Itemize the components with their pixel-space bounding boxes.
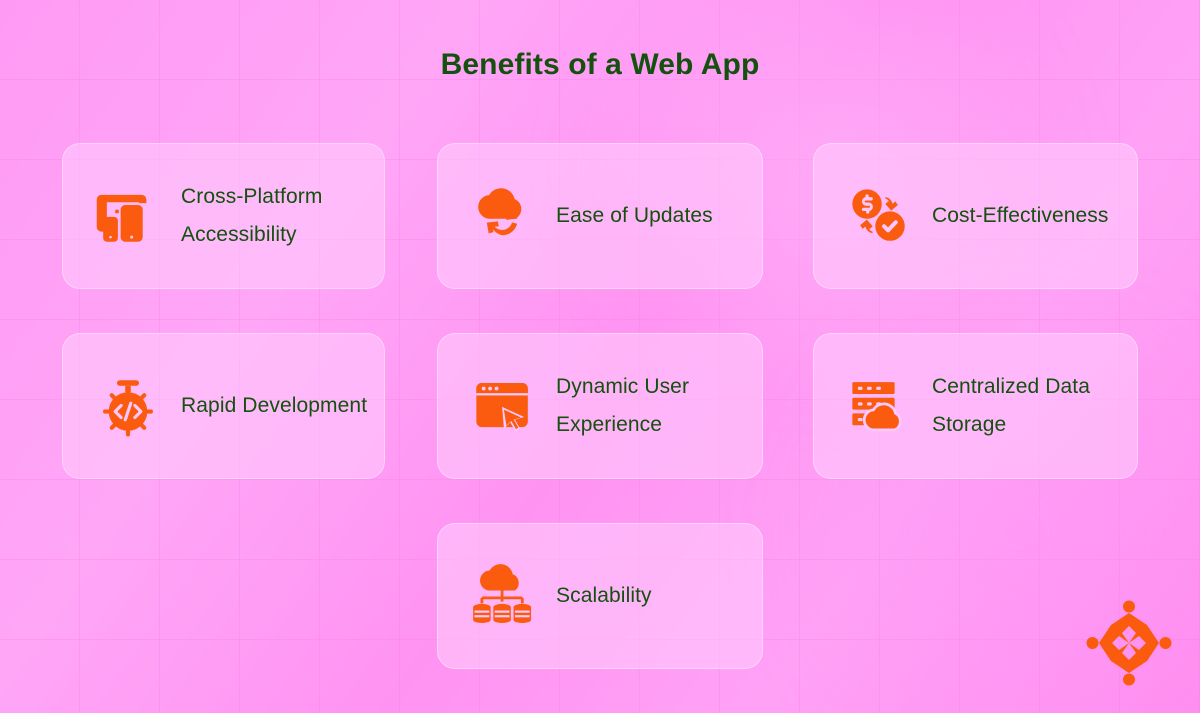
stopwatch-code-icon xyxy=(91,369,165,443)
benefit-label: Rapid Development xyxy=(181,387,367,425)
devices-icon xyxy=(91,179,165,253)
page-title: Benefits of a Web App xyxy=(0,48,1200,82)
cloud-databases-icon xyxy=(466,559,540,633)
benefit-label: Ease of Updates xyxy=(556,197,713,235)
server-cloud-icon xyxy=(842,369,916,443)
benefit-card-cost-effectiveness[interactable]: Cost-Effectiveness xyxy=(813,143,1138,289)
benefit-card-cross-platform[interactable]: Cross-Platform Accessibility xyxy=(62,143,385,289)
benefit-label: Centralized Data Storage xyxy=(932,368,1137,444)
benefit-card-scalability[interactable]: Scalability xyxy=(437,523,763,669)
coin-check-exchange-icon xyxy=(842,179,916,253)
benefit-card-dynamic-ux[interactable]: Dynamic User Experience xyxy=(437,333,763,479)
benefit-label: Dynamic User Experience xyxy=(556,368,762,444)
benefit-card-rapid-development[interactable]: Rapid Development xyxy=(62,333,385,479)
browser-cursor-icon xyxy=(466,369,540,443)
benefit-card-ease-updates[interactable]: Ease of Updates xyxy=(437,143,763,289)
benefit-card-centralized-storage[interactable]: Centralized Data Storage xyxy=(813,333,1138,479)
benefit-label: Cost-Effectiveness xyxy=(932,197,1109,235)
cloud-refresh-icon xyxy=(466,179,540,253)
benefit-label: Scalability xyxy=(556,577,652,615)
infographic-page: Benefits of a Web App Cross-Platform Acc… xyxy=(0,0,1200,713)
benefit-label: Cross-Platform Accessibility xyxy=(181,178,384,254)
four-point-star-logo xyxy=(1086,600,1172,686)
